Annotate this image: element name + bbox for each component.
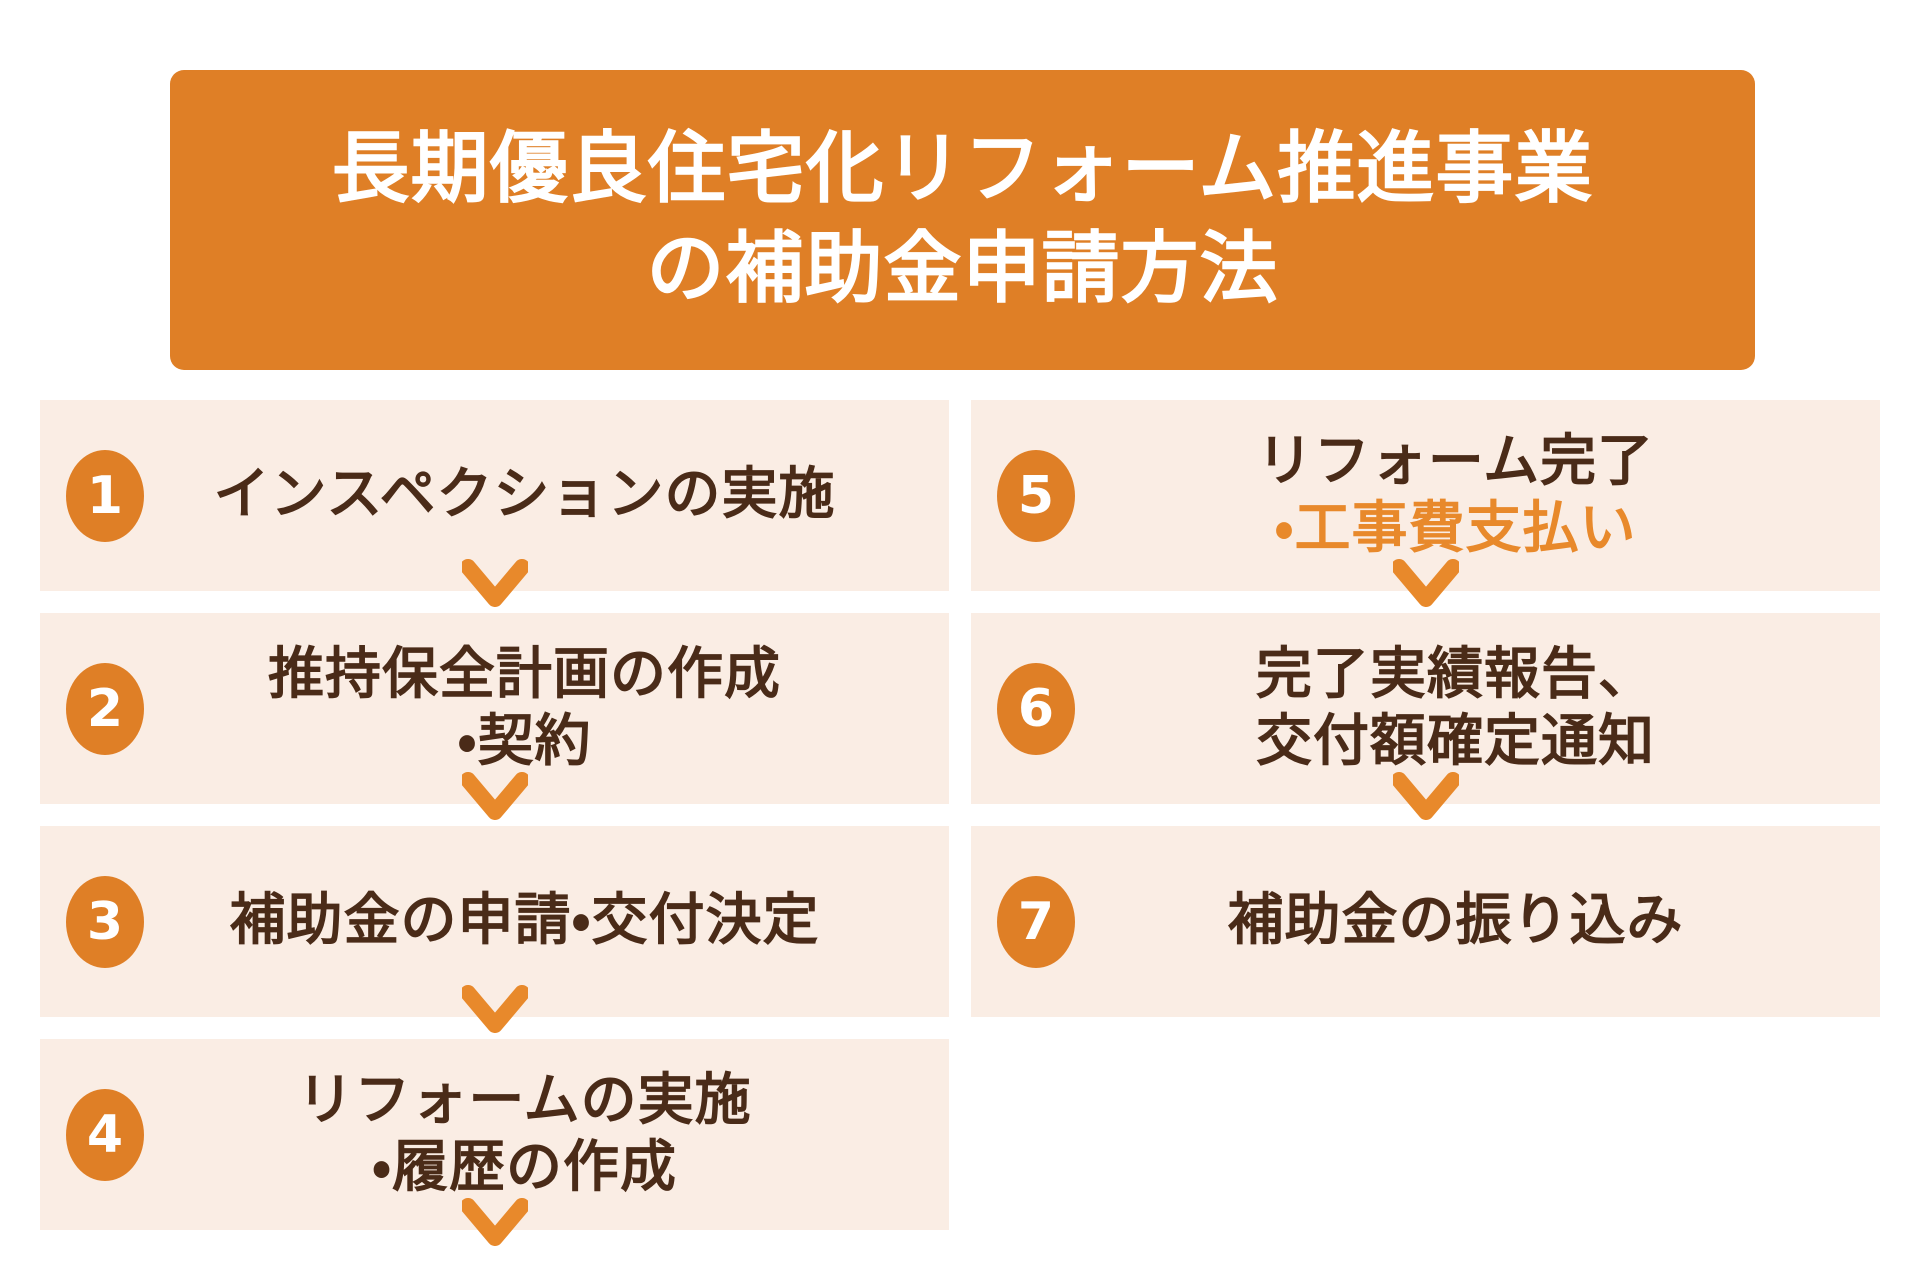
step-label: 補助金の申請・交付決定 [166,888,923,954]
step-row[interactable]: 6完了実績報告、交付額確定通知 [971,613,1880,804]
chevron-down-icon [462,985,528,1043]
page-title-line-1: 長期優良住宅化リフォーム推進事業 [332,120,1594,220]
page-title-line-2: の補助金申請方法 [646,220,1278,320]
left-step-column: 1インスペクションの実施2推持保全計画の作成・契約3補助金の申請・交付決定4リフ… [40,400,949,1230]
step-label: 推持保全計画の作成・契約 [166,642,923,774]
step-number-badge: 5 [997,450,1075,542]
step-row[interactable]: 3補助金の申請・交付決定 [40,826,949,1017]
step-label-line-1: 補助金の振り込み [1097,888,1814,954]
step-number-badge: 4 [66,1089,144,1181]
title-banner: 長期優良住宅化リフォーム推進事業 の補助金申請方法 [170,70,1755,370]
chevron-down-icon [1393,772,1459,830]
step-label: 補助金の振り込み [1097,888,1854,954]
step-label: リフォーム完了・工事費支払い [1097,429,1854,561]
steps-columns: 1インスペクションの実施2推持保全計画の作成・契約3補助金の申請・交付決定4リフ… [0,400,1920,1230]
step-label-line-1: インスペクションの実施 [166,462,883,528]
step-label: インスペクションの実施 [166,462,923,528]
step-row[interactable]: 5リフォーム完了・工事費支払い [971,400,1880,591]
chevron-down-icon [462,772,528,830]
step-number-badge: 2 [66,663,144,755]
step-label-line-2: 交付額確定通知 [1097,709,1814,775]
chevron-down-icon [462,559,528,617]
step-label-line-2: ・履歴の作成 [166,1135,883,1201]
step-row[interactable]: 1インスペクションの実施 [40,400,949,591]
step-label: 完了実績報告、交付額確定通知 [1097,642,1854,774]
step-label: リフォームの実施・履歴の作成 [166,1068,923,1200]
column-spacer [971,1039,1880,1230]
chevron-down-icon [1393,559,1459,617]
infographic-canvas: 長期優良住宅化リフォーム推進事業 の補助金申請方法 1インスペクションの実施2推… [0,0,1920,1278]
step-label-line-1: 補助金の申請・交付決定 [166,888,883,954]
right-step-column: 5リフォーム完了・工事費支払い6完了実績報告、交付額確定通知7補助金の振り込み [971,400,1880,1230]
step-number-badge: 6 [997,663,1075,755]
step-number-badge: 7 [997,876,1075,968]
step-row[interactable]: 2推持保全計画の作成・契約 [40,613,949,804]
step-label-line-2: ・契約 [166,709,883,775]
step-label-line-1: 推持保全計画の作成 [166,642,883,708]
step-row[interactable]: 4リフォームの実施・履歴の作成 [40,1039,949,1230]
chevron-down-icon [462,1198,528,1256]
step-label-line-1: 完了実績報告、 [1097,642,1814,708]
step-label-line-1: リフォームの実施 [166,1068,883,1134]
step-label-line-2: ・工事費支払い [1097,496,1814,562]
step-row[interactable]: 7補助金の振り込み [971,826,1880,1017]
step-label-line-1: リフォーム完了 [1097,429,1814,495]
step-number-badge: 1 [66,450,144,542]
step-number-badge: 3 [66,876,144,968]
